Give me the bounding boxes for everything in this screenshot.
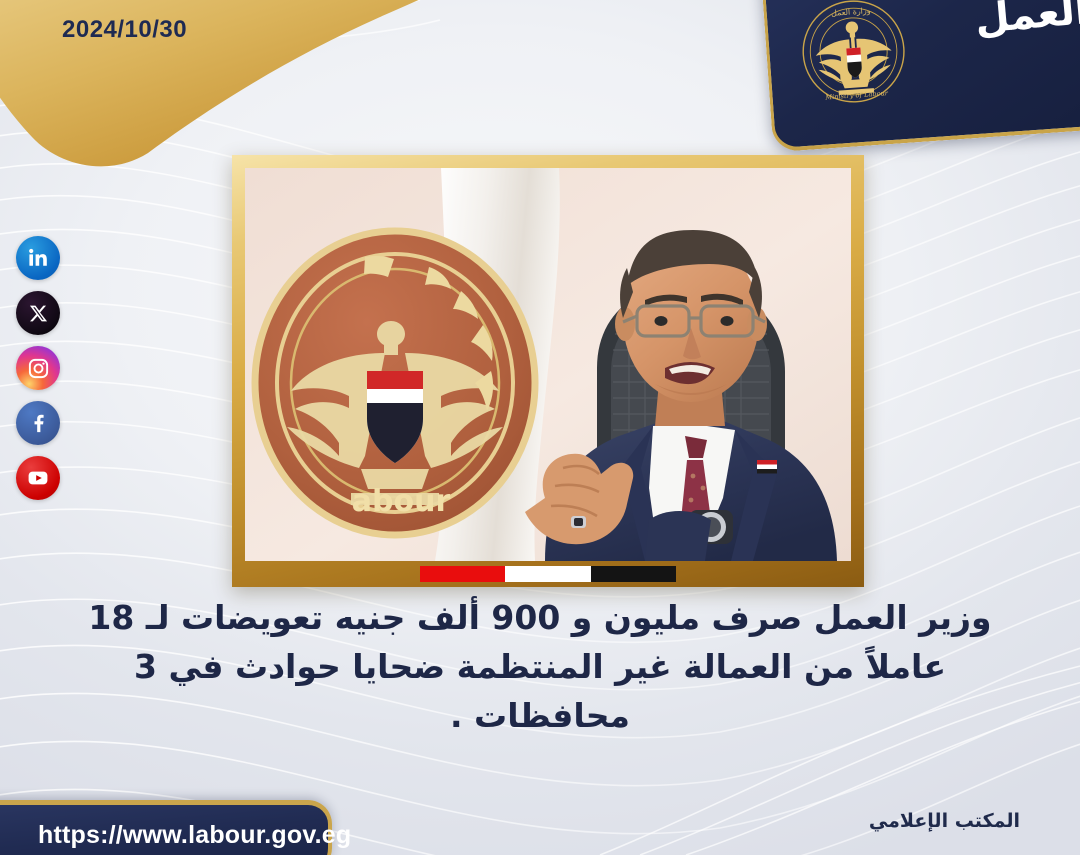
- ministry-wordmark: وزارة العمل: [953, 0, 1080, 41]
- flag-stripe-white: [505, 566, 590, 582]
- publication-date: 2024/10/30: [62, 16, 187, 44]
- website-url[interactable]: https://www.labour.gov.eg: [38, 821, 351, 850]
- wordmark-line-2: العمل: [955, 0, 1080, 41]
- social-icon-linkedin[interactable]: [16, 236, 60, 280]
- news-photo: abour: [245, 168, 851, 561]
- news-card-poster: 2024/10/30: [0, 0, 1080, 855]
- emblem-english-text: Ministry of Labour: [824, 89, 889, 101]
- flag-stripe-black: [591, 566, 676, 582]
- headline-text: وزير العمل صرف مليون و 900 ألف جنيه تعوي…: [86, 594, 994, 740]
- social-icon-youtube[interactable]: [16, 456, 60, 500]
- emblem-bottom-word: abour: [352, 484, 451, 519]
- social-icon-x-twitter[interactable]: [16, 291, 60, 335]
- website-url-bar[interactable]: https://www.labour.gov.eg: [0, 800, 332, 855]
- social-links-rail: [16, 236, 60, 500]
- ministry-badge: وزارة العمل Ministry of Labour وزارة الع…: [759, 0, 1080, 152]
- social-icon-instagram[interactable]: [16, 346, 60, 390]
- egypt-flag-strip: [420, 566, 676, 582]
- egypt-eagle-emblem-icon: وزارة العمل Ministry of Labour: [797, 0, 910, 108]
- flag-stripe-red: [420, 566, 505, 582]
- news-photo-frame: abour: [232, 155, 864, 587]
- social-icon-facebook[interactable]: [16, 401, 60, 445]
- media-office-label: المكتب الإعلامي: [869, 810, 1020, 832]
- emblem-arabic-text: وزارة العمل: [831, 6, 871, 18]
